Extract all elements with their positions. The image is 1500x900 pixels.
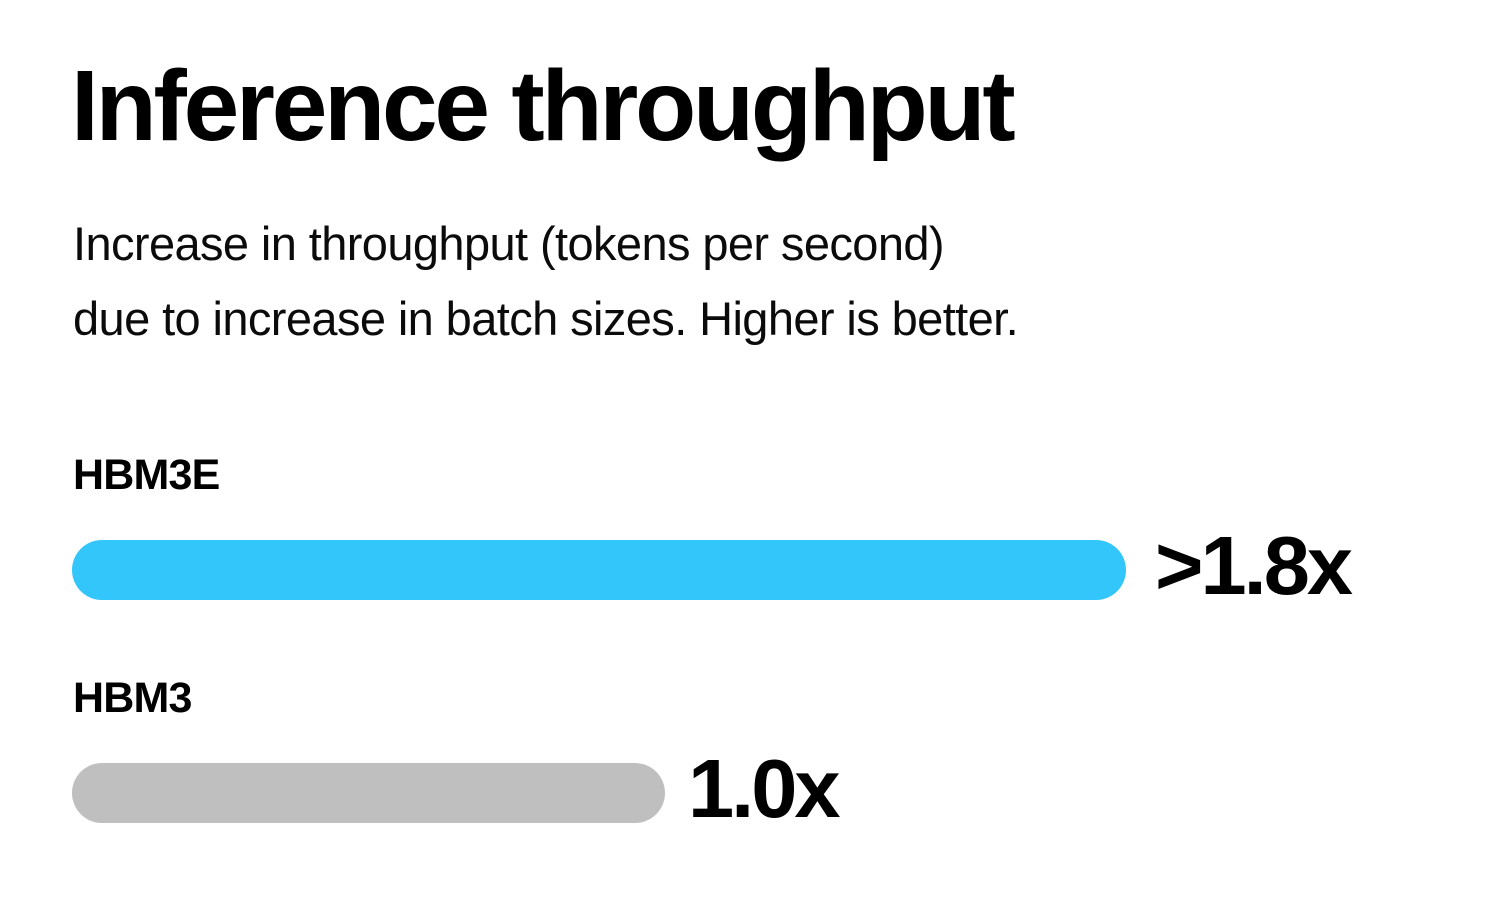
bar-category-label-hbm3e: HBM3E <box>73 452 220 498</box>
bar-fill-hbm3e <box>72 540 1126 600</box>
inference-throughput-infographic: Inference throughput Increase in through… <box>0 0 1500 900</box>
bar-track-hbm3e <box>72 540 1126 600</box>
bar-fill-hbm3 <box>72 763 665 823</box>
bar-category-label-hbm3: HBM3 <box>73 675 192 721</box>
bar-value-label-hbm3: 1.0x <box>688 743 838 835</box>
bar-track-hbm3 <box>72 763 665 823</box>
bar-value-label-hbm3e: >1.8x <box>1155 520 1350 612</box>
bar-chart: HBM3E >1.8x HBM3 1.0x <box>0 0 1500 900</box>
